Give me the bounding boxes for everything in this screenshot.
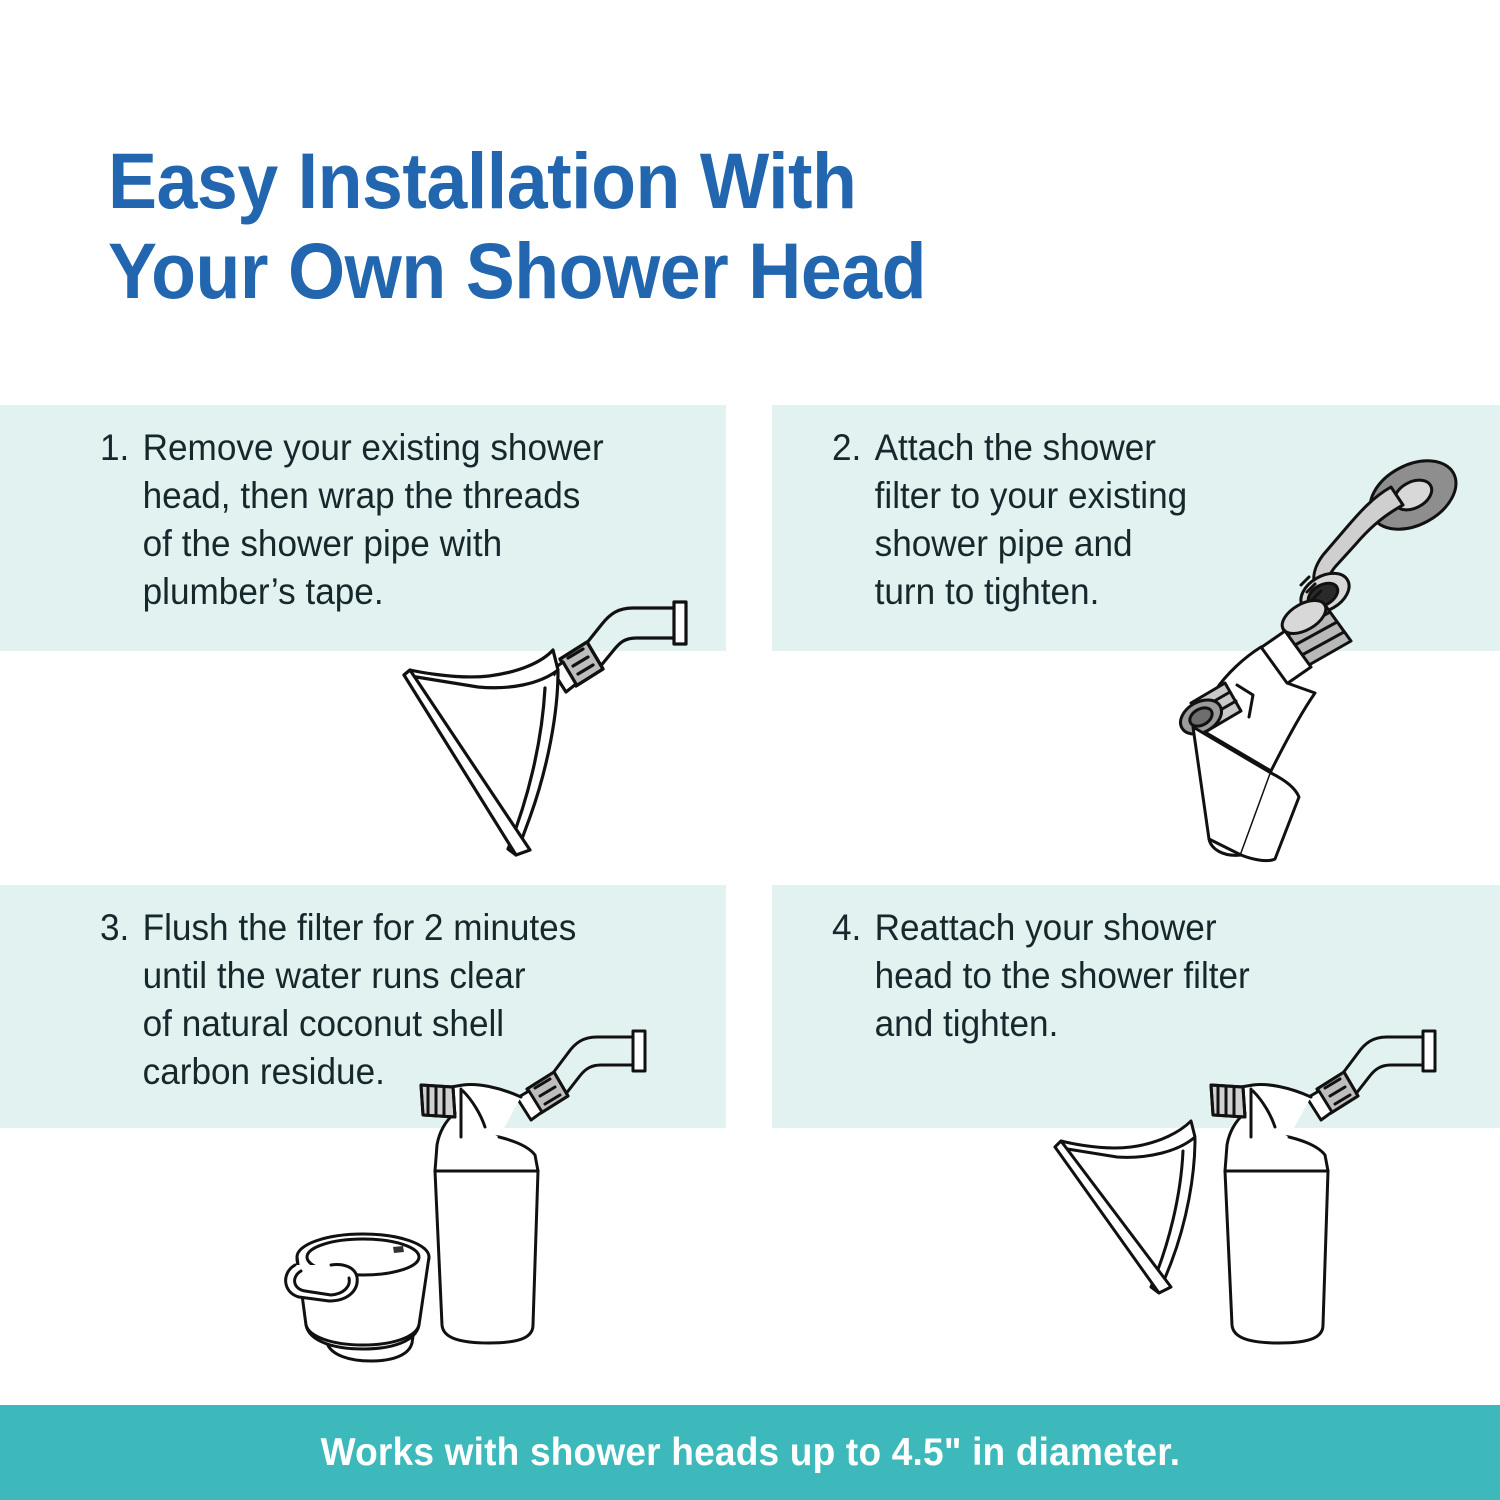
reattach-shower-head-illustration <box>1045 1025 1455 1385</box>
step-1-text: Remove your existing shower head, then w… <box>143 424 689 616</box>
shower-head-detached-illustration <box>390 592 720 867</box>
step-1-number: 1. <box>100 424 129 616</box>
step-2-number: 2. <box>832 424 861 616</box>
footer-banner: Works with shower heads up to 4.5" in di… <box>0 1405 1500 1500</box>
step-4-number: 4. <box>832 904 861 1048</box>
shower-filter-and-arm-illustration <box>1175 435 1500 865</box>
step-3-number: 3. <box>100 904 129 1096</box>
step-1-copy: 1. Remove your existing shower head, the… <box>100 424 689 616</box>
filter-flush-with-bucket-illustration <box>285 1025 765 1385</box>
footer-banner-text: Works with shower heads up to 4.5" in di… <box>320 1431 1180 1475</box>
